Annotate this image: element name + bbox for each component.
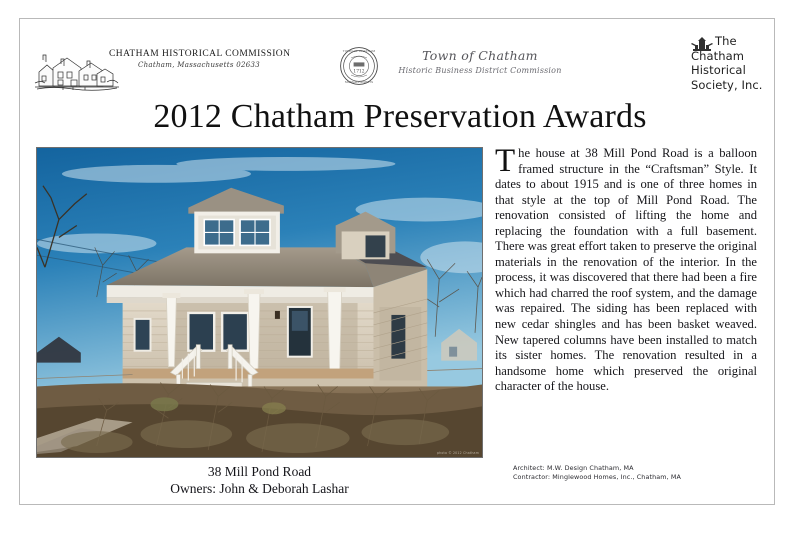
photo-caption: 38 Mill Pond Road Owners: John & Deborah… bbox=[36, 463, 483, 497]
town-subtitle: Historic Business District Commission bbox=[385, 66, 575, 75]
chatham-historical-society-logo: The Chatham Historical Society, Inc. bbox=[669, 28, 779, 98]
caption-owners: Owners: John & Deborah Lashar bbox=[36, 480, 483, 497]
header: CHATHAM HISTORICAL COMMISSION Chatham, M… bbox=[19, 24, 775, 100]
article-text: he house at 38 Mill Pond Road is a ballo… bbox=[495, 146, 757, 393]
society-line-4: Society, Inc. bbox=[691, 78, 783, 93]
project-credits: Architect: M.W. Design Chatham, MA Contr… bbox=[513, 464, 763, 483]
commission-text: CHATHAM HISTORICAL COMMISSION Chatham, M… bbox=[109, 49, 289, 69]
town-of-chatham-logo: TOWN OF CHATHAM MASSACHUSETTS 1712 Town … bbox=[319, 28, 579, 94]
house-photograph: photo © 2012 Chatham bbox=[36, 147, 483, 458]
commission-subtitle: Chatham, Massachusetts 02633 bbox=[109, 61, 289, 69]
chatham-historical-commission-logo: CHATHAM HISTORICAL COMMISSION Chatham, M… bbox=[33, 32, 285, 94]
society-line-3: Historical bbox=[691, 63, 783, 78]
commission-title: CHATHAM HISTORICAL COMMISSION bbox=[109, 49, 289, 59]
caption-address: 38 Mill Pond Road bbox=[36, 463, 483, 480]
award-poster-page: CHATHAM HISTORICAL COMMISSION Chatham, M… bbox=[0, 0, 800, 533]
photo-credit: photo © 2012 Chatham bbox=[437, 451, 479, 455]
society-text: The Chatham Historical Society, Inc. bbox=[691, 34, 783, 92]
credit-contractor: Contractor: Minglewood Homes, Inc., Chat… bbox=[513, 473, 763, 482]
town-text: Town of Chatham Historic Business Distri… bbox=[385, 48, 575, 75]
town-seal-icon: TOWN OF CHATHAM MASSACHUSETTS 1712 bbox=[339, 46, 379, 86]
article-paragraph: The house at 38 Mill Pond Road is a ball… bbox=[495, 146, 757, 395]
town-title: Town of Chatham bbox=[385, 48, 575, 63]
seal-year: 1712 bbox=[353, 69, 364, 74]
svg-text:MASSACHUSETTS: MASSACHUSETTS bbox=[345, 80, 373, 84]
house-photo-illustration bbox=[37, 148, 482, 457]
article-dropcap: T bbox=[495, 146, 518, 174]
credit-architect: Architect: M.W. Design Chatham, MA bbox=[513, 464, 763, 473]
page-title: 2012 Chatham Preservation Awards bbox=[0, 98, 800, 136]
historic-house-sketch-icon bbox=[33, 42, 121, 92]
society-line-2: Chatham bbox=[691, 49, 783, 64]
society-line-1: The bbox=[691, 34, 783, 49]
svg-text:TOWN OF CHATHAM: TOWN OF CHATHAM bbox=[343, 49, 375, 53]
article-body: The house at 38 Mill Pond Road is a ball… bbox=[495, 146, 757, 395]
